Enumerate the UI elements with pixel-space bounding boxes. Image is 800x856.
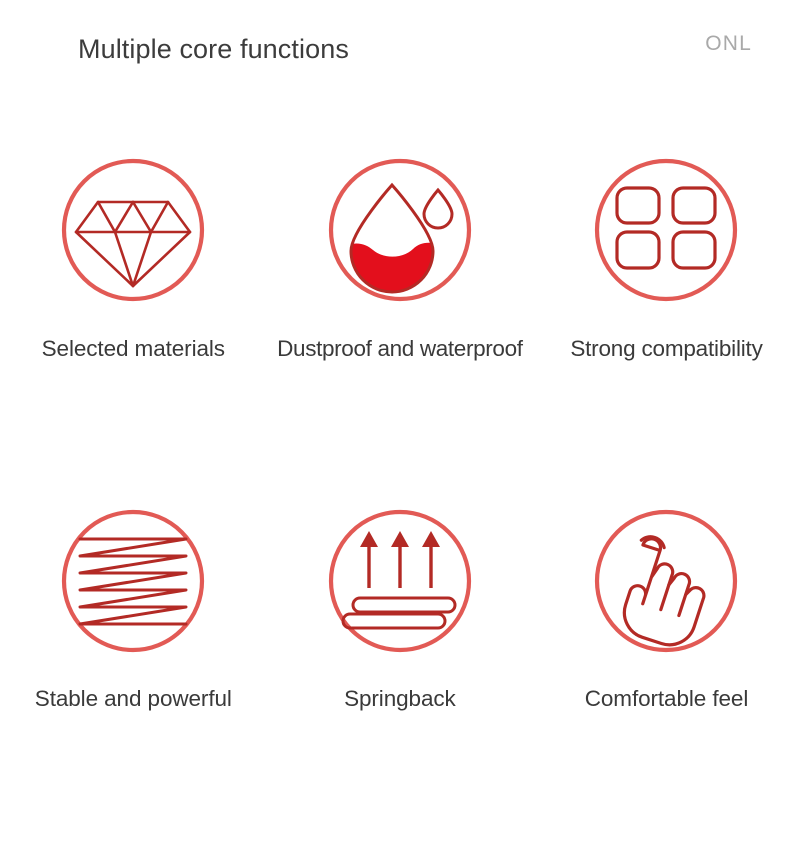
feature-label: Dustproof and waterproof <box>277 334 523 364</box>
feature-item-stable-and-powerful[interactable]: Stable and powerful <box>0 506 267 714</box>
feature-item-selected-materials[interactable]: Selected materials <box>0 155 267 364</box>
feature-label: Springback <box>344 684 456 714</box>
feature-grid: Selected materials <box>0 155 800 856</box>
feature-label: Comfortable feel <box>585 684 748 714</box>
hand-tap-icon <box>591 506 741 656</box>
zigzag-spring-icon <box>58 506 208 656</box>
feature-page: Multiple core functions ONL <box>0 0 800 800</box>
feature-item-springback[interactable]: Springback <box>267 506 534 714</box>
feature-label: Stable and powerful <box>35 684 232 714</box>
feature-label: Selected materials <box>42 334 225 364</box>
feature-row: Selected materials <box>0 155 800 505</box>
feature-row: Stable and powerful <box>0 506 800 856</box>
four-squares-grid-icon <box>591 155 741 305</box>
page-title: Multiple core functions <box>78 31 349 67</box>
feature-item-strong-compatibility[interactable]: Strong compatibility <box>533 155 800 364</box>
water-drop-icon <box>325 155 475 305</box>
feature-item-comfortable-feel[interactable]: Comfortable feel <box>533 506 800 714</box>
feature-label: Strong compatibility <box>570 334 762 364</box>
diamond-icon <box>58 155 208 305</box>
springback-arrows-icon <box>325 506 475 656</box>
watermark-text: ONL <box>705 30 752 58</box>
feature-item-dustproof-waterproof[interactable]: Dustproof and waterproof <box>267 155 534 364</box>
